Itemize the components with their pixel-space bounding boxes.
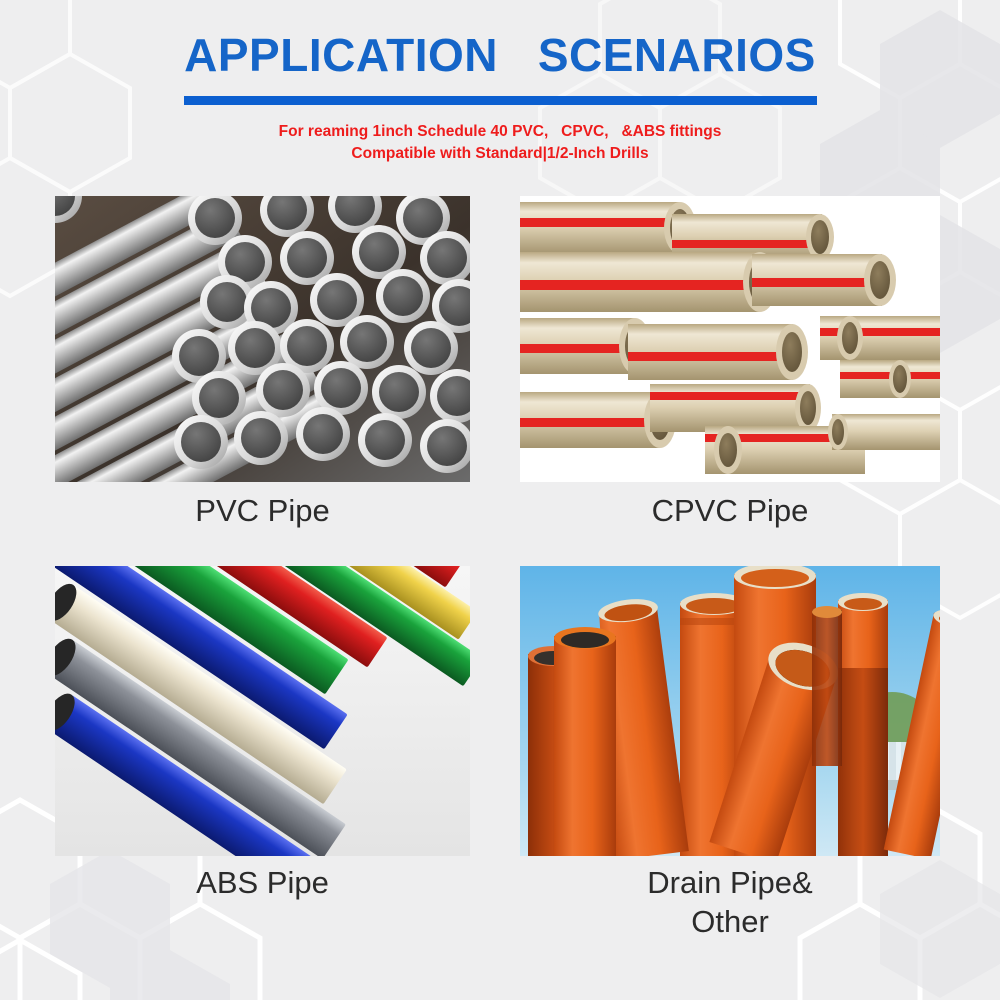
caption-drain-line-1: Drain Pipe& — [520, 864, 940, 903]
panel-abs: ABS Pipe — [55, 566, 470, 856]
title-divider-bar — [184, 96, 817, 105]
abs-pipe-photo — [55, 566, 470, 856]
subtitle-line-2: Compatible with Standard|1/2-Inch Drills — [0, 143, 1000, 165]
caption-cpvc: CPVC Pipe — [520, 492, 940, 531]
subtitle: For reaming 1inch Schedule 40 PVC, CPVC,… — [0, 121, 1000, 165]
pvc-pipe-photo — [55, 196, 470, 482]
panel-cpvc: CPVC Pipe — [520, 196, 940, 482]
caption-abs-line-1: ABS Pipe — [55, 864, 470, 903]
cpvc-pipe-photo — [520, 196, 940, 482]
caption-pvc-line-1: PVC Pipe — [55, 492, 470, 531]
caption-drain-line-2: Other — [520, 903, 940, 942]
caption-pvc: PVC Pipe — [55, 492, 470, 531]
caption-drain: Drain Pipe& Other — [520, 864, 940, 942]
panel-drain: Drain Pipe& Other — [520, 566, 940, 856]
header: APPLICATION SCENARIOS For reaming 1inch … — [0, 0, 1000, 165]
caption-abs: ABS Pipe — [55, 864, 470, 903]
subtitle-line-1: For reaming 1inch Schedule 40 PVC, CPVC,… — [0, 121, 1000, 143]
panel-pvc: PVC Pipe — [55, 196, 470, 482]
application-grid: PVC Pipe — [55, 196, 940, 956]
caption-cpvc-line-1: CPVC Pipe — [520, 492, 940, 531]
drain-pipe-photo — [520, 566, 940, 856]
page-title: APPLICATION SCENARIOS — [0, 30, 1000, 82]
infographic-page: APPLICATION SCENARIOS For reaming 1inch … — [0, 0, 1000, 1000]
